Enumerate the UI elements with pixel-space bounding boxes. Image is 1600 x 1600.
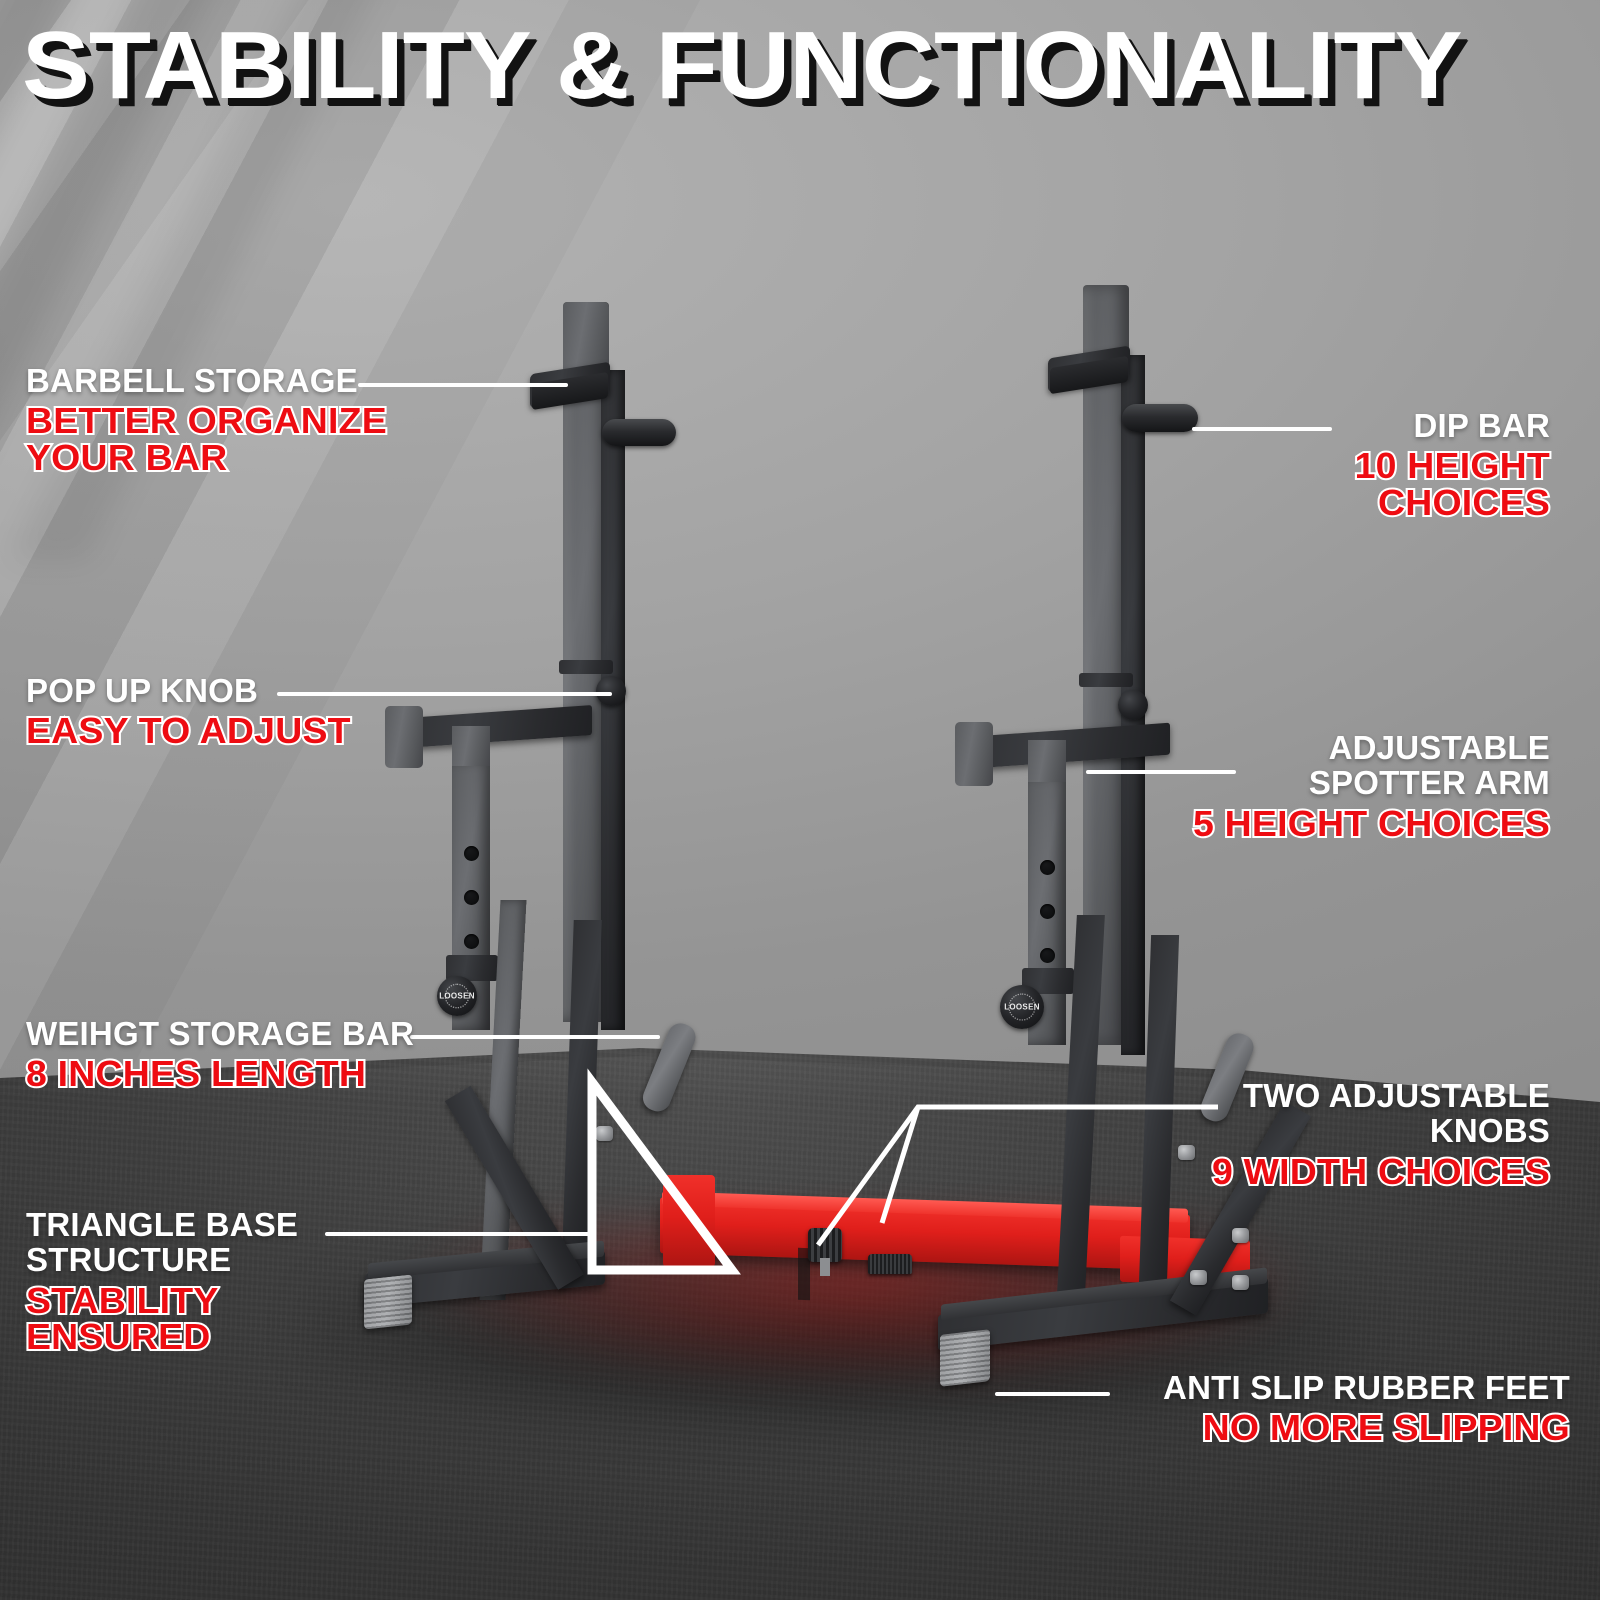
callout-dip-bar: DIP BAR 10 HEIGHT CHOICES	[1130, 408, 1550, 522]
adjust-hole	[464, 890, 479, 905]
callout-dip-bar-heading: DIP BAR	[1130, 408, 1550, 443]
callout-triangle-base-structure-heading: TRIANGLE BASE STRUCTURE	[26, 1207, 298, 1278]
callout-barbell-storage-subtext: BETTER ORGANIZE YOUR BAR	[26, 403, 387, 476]
callout-two-adjustable-knobs: TWO ADJUSTABLE KNOBS 9 WIDTH CHOICES	[1130, 1078, 1550, 1190]
callout-two-adjustable-knobs-heading: TWO ADJUSTABLE KNOBS	[1130, 1078, 1550, 1149]
left-post-sleeve-ring	[559, 660, 613, 674]
adjust-hole	[464, 934, 479, 949]
adjust-hole	[1040, 948, 1055, 963]
adjust-hole	[1040, 860, 1055, 875]
callout-barbell-storage-heading: BARBELL STORAGE	[26, 363, 373, 398]
right-spotter-collar	[1028, 740, 1066, 782]
leader-line-triangle-base	[325, 1232, 595, 1236]
callout-adjustable-spotter-arm-subtext: 5 HEIGHT CHOICES	[1113, 806, 1550, 843]
callout-weight-storage-bar-subtext: 8 INCHES LENGTH	[26, 1056, 430, 1093]
page-title: STABILITY & FUNCTIONALITY	[22, 18, 1600, 114]
pop-up-knob-left[interactable]	[596, 676, 626, 706]
anti-slip-rubber-foot-left	[364, 1274, 412, 1329]
callout-anti-slip-rubber-feet-heading: ANTI SLIP RUBBER FEET	[1050, 1370, 1570, 1405]
callout-pop-up-knob: POP UP KNOB EASY TO ADJUST	[26, 673, 338, 750]
leader-line-barbell-storage	[358, 383, 568, 387]
infographic-canvas: LOOSEN	[0, 0, 1600, 1600]
brace-bolt	[1232, 1228, 1249, 1243]
callout-dip-bar-subtext: 10 HEIGHT CHOICES	[1113, 448, 1550, 521]
width-adjust-knob-a-stem	[820, 1258, 830, 1276]
pop-up-knob-right[interactable]	[1118, 690, 1148, 720]
callout-anti-slip-rubber-feet-subtext: NO MORE SLIPPING	[1029, 1410, 1570, 1447]
callout-adjustable-spotter-arm-heading: ADJUSTABLE SPOTTER ARM	[1130, 730, 1550, 801]
right-post-sleeve-ring	[1079, 673, 1133, 687]
callout-pop-up-knob-subtext: EASY TO ADJUST	[26, 713, 351, 750]
callout-triangle-base-structure-subtext: STABILITY ENSURED	[26, 1283, 309, 1356]
callout-two-adjustable-knobs-subtext: 9 WIDTH CHOICES	[1113, 1154, 1550, 1191]
adjust-hole	[1040, 904, 1055, 919]
adjust-knob-left[interactable]: LOOSEN	[437, 976, 477, 1016]
width-adjust-knob-b[interactable]	[868, 1254, 912, 1274]
spotter-arm-right-pad	[955, 722, 993, 786]
callout-anti-slip-rubber-feet: ANTI SLIP RUBBER FEET NO MORE SLIPPING	[1050, 1370, 1570, 1447]
triangle-base-highlight	[540, 1040, 760, 1300]
brace-bolt	[1232, 1275, 1249, 1290]
callout-weight-storage-bar: WEIHGT STORAGE BAR 8 INCHES LENGTH	[26, 1016, 414, 1093]
knob-loosen-text: LOOSEN	[437, 992, 477, 1001]
anti-slip-rubber-foot-right	[940, 1329, 990, 1387]
callout-pop-up-knob-heading: POP UP KNOB	[26, 673, 338, 708]
adjust-knob-right[interactable]: LOOSEN	[1000, 985, 1044, 1029]
knob-loosen-text: LOOSEN	[1000, 1003, 1044, 1012]
left-spotter-collar	[452, 726, 490, 766]
callout-adjustable-spotter-arm: ADJUSTABLE SPOTTER ARM 5 HEIGHT CHOICES	[1130, 730, 1550, 842]
spotter-arm-left-pad	[385, 706, 423, 768]
dip-bar-left	[602, 419, 676, 446]
leader-line-weight-storage	[410, 1035, 660, 1039]
callout-weight-storage-bar-heading: WEIHGT STORAGE BAR	[26, 1016, 414, 1051]
brace-bolt	[1190, 1270, 1207, 1285]
callout-triangle-base-structure: TRIANGLE BASE STRUCTURE STABILITY ENSURE…	[26, 1207, 298, 1356]
callout-barbell-storage: BARBELL STORAGE BETTER ORGANIZE YOUR BAR	[26, 363, 373, 477]
adjust-hole	[464, 846, 479, 861]
